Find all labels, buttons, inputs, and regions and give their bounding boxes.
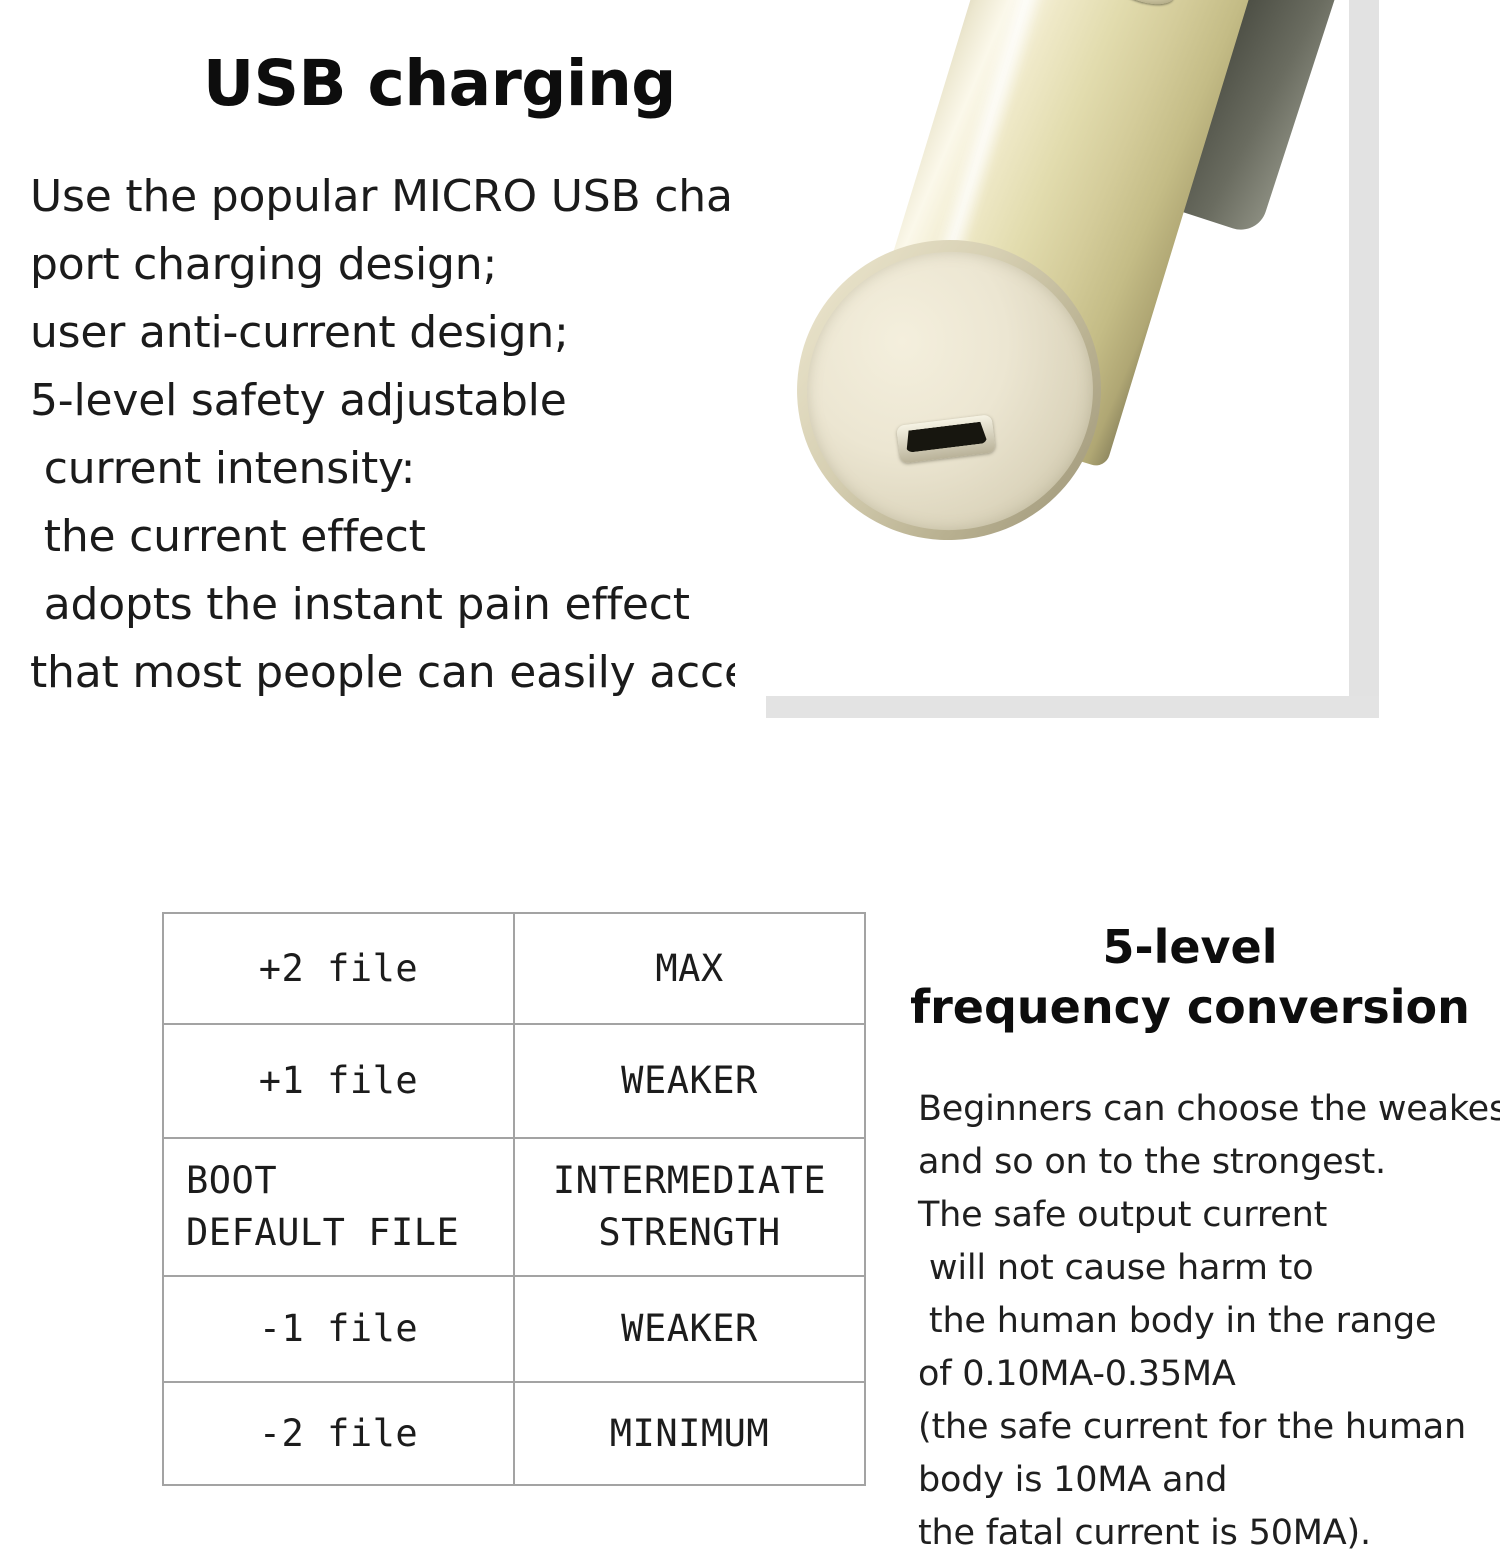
table-cell-strength-line: STRENGTH	[521, 1207, 858, 1259]
table-cell-level: -1 file	[163, 1276, 514, 1382]
table-cell-strength: MAX	[514, 913, 865, 1024]
heading-line-2: frequency conversion	[910, 976, 1470, 1038]
paragraph-line: of 0.10MA-0.35MA	[918, 1348, 1498, 1401]
level-strength-table: +2 file MAX +1 file WEAKER BOOT DEFAULT …	[162, 912, 866, 1486]
paragraph-line: The safe output current	[918, 1189, 1498, 1242]
table-row: BOOT DEFAULT FILE INTERMEDIATE STRENGTH	[163, 1138, 865, 1276]
photo-frame-inner-edge	[735, 680, 1349, 696]
table-cell-level-line: DEFAULT FILE	[186, 1207, 507, 1259]
paragraph-line: Beginners can choose the weakest	[918, 1083, 1498, 1136]
table-cell-level: +1 file	[163, 1024, 514, 1138]
paragraph-line: body is 10MA and	[918, 1454, 1498, 1507]
table-row: +1 file WEAKER	[163, 1024, 865, 1138]
table-cell-strength: WEAKER	[514, 1276, 865, 1382]
paragraph-line: will not cause harm to	[918, 1242, 1498, 1295]
table-cell-level-line: BOOT	[186, 1155, 507, 1207]
heading-line-1: 5-level	[910, 918, 1470, 976]
table-cell-level: -2 file	[163, 1382, 514, 1485]
frequency-conversion-paragraph: Beginners can choose the weakest and so …	[918, 1083, 1498, 1560]
frequency-conversion-heading: 5-level frequency conversion	[910, 918, 1470, 1038]
paragraph-line: (the safe current for the human	[918, 1401, 1498, 1454]
table-row: +2 file MAX	[163, 913, 865, 1024]
photo-frame-shadow-bottom	[766, 696, 1379, 718]
paragraph-line: the human body in the range	[918, 1295, 1498, 1348]
table-row: -2 file MINIMUM	[163, 1382, 865, 1485]
table-cell-strength: INTERMEDIATE STRENGTH	[514, 1138, 865, 1276]
table-cell-strength-line: INTERMEDIATE	[521, 1155, 858, 1207]
product-photo-frame	[735, 0, 1349, 696]
photo-frame-shadow-right	[1348, 0, 1379, 716]
paragraph-line: the fatal current is 50MA).	[918, 1507, 1498, 1560]
table-cell-level: BOOT DEFAULT FILE	[163, 1138, 514, 1276]
page-title: USB charging	[203, 47, 676, 120]
usb-charging-section: USB charging Use the popular MICRO USB c…	[0, 0, 1500, 760]
table-cell-strength: MINIMUM	[514, 1382, 865, 1485]
table-row: -1 file WEAKER	[163, 1276, 865, 1382]
table-cell-strength: WEAKER	[514, 1024, 865, 1138]
table-cell-level: +2 file	[163, 913, 514, 1024]
paragraph-line: and so on to the strongest.	[918, 1136, 1498, 1189]
